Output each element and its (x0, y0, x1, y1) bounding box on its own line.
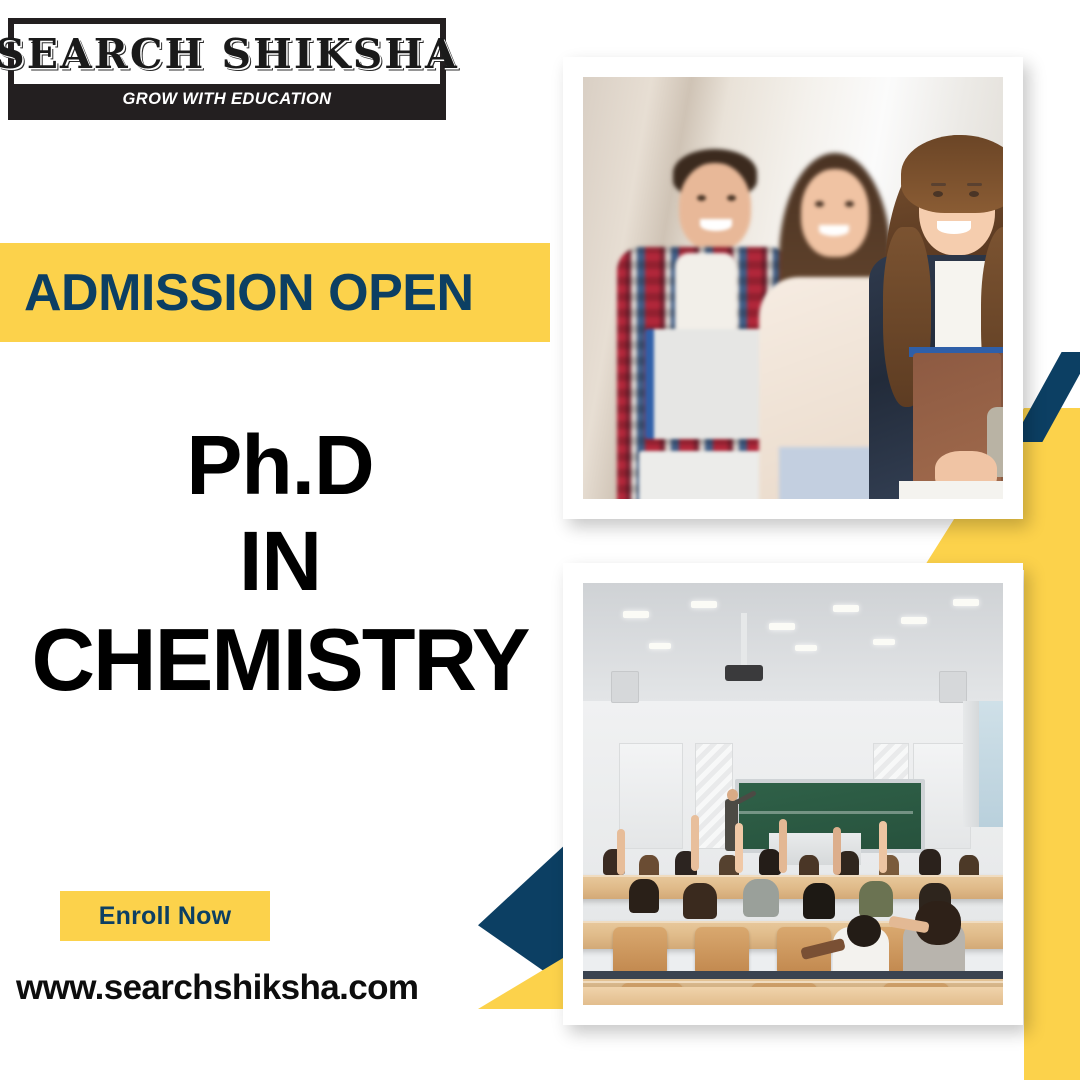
student-woman-trousers (899, 481, 1003, 499)
chalkboard-divider (739, 811, 913, 814)
speaker-icon-right (939, 671, 967, 703)
students-photo (563, 57, 1023, 519)
enroll-now-label: Enroll Now (99, 902, 232, 931)
lecture-hall-photo-image (583, 583, 1003, 1005)
student-girl-eye-left (815, 201, 824, 207)
student-woman-eye-left (933, 191, 943, 197)
headline-line-subject: CHEMISTRY (0, 610, 560, 710)
logo-wordmark: SEARCH SHIKSHA (14, 24, 440, 84)
student-woman-eye-right (969, 191, 979, 197)
student-woman-hair-front (901, 135, 1003, 213)
student-boy-notebook-second (639, 451, 773, 499)
admission-poster: SEARCH SHIKSHA GROW WITH EDUCATION ADMIS… (0, 0, 1080, 1080)
logo-tagline-bar: GROW WITH EDUCATION (14, 84, 440, 114)
admission-open-banner: ADMISSION OPEN (0, 243, 550, 342)
student-girl-smile (819, 225, 849, 236)
headline-line-in: IN (0, 514, 560, 610)
brand-logo[interactable]: SEARCH SHIKSHA GROW WITH EDUCATION (8, 18, 446, 120)
student-boy-smile (700, 219, 732, 231)
student-boy-head (679, 163, 751, 251)
headline-line-degree: Ph.D (0, 418, 560, 514)
lecture-hall-photo (563, 563, 1023, 1025)
students-photo-image (583, 77, 1003, 499)
student-boy-eye-left (697, 195, 706, 201)
student-girl-head (801, 169, 869, 257)
website-url[interactable]: www.searchshiksha.com (16, 968, 418, 1008)
student-woman-smile (937, 221, 971, 234)
student-girl-eye-right (845, 201, 854, 207)
student-boy-eye-right (727, 195, 736, 201)
projector-pole (741, 613, 747, 667)
lecture-hall-door-left (619, 743, 683, 849)
page-title: Ph.D IN CHEMISTRY (0, 418, 560, 710)
logo-tagline: GROW WITH EDUCATION (123, 90, 332, 109)
lecture-hall-window (979, 701, 1003, 827)
projector-icon (725, 665, 763, 681)
admission-open-label: ADMISSION OPEN (24, 263, 474, 323)
speaker-icon-left (611, 671, 639, 703)
enroll-now-button[interactable]: Enroll Now (60, 891, 270, 941)
student-woman-brow-left (931, 183, 946, 186)
student-woman-brow-right (967, 183, 982, 186)
